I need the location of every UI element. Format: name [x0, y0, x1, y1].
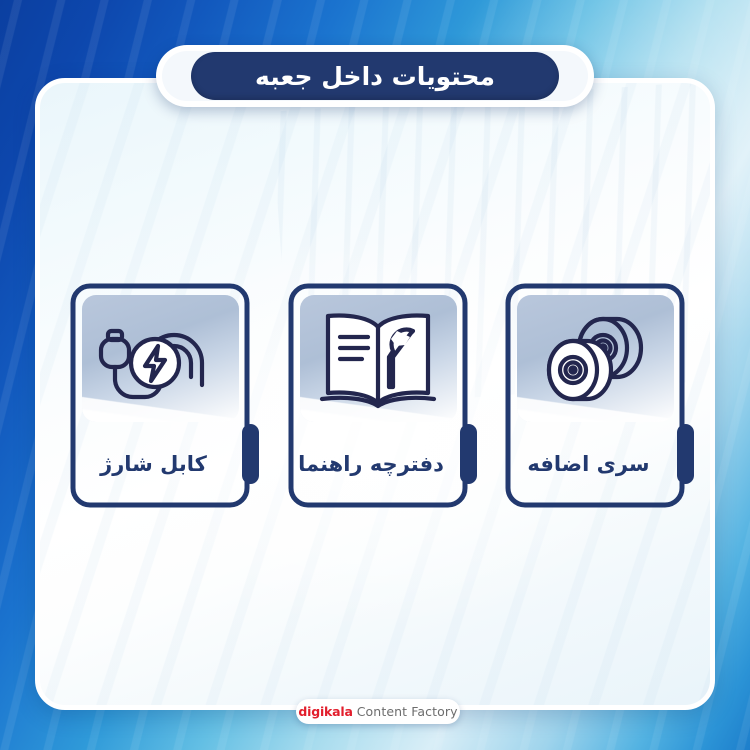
card-user-manual[interactable]: دفترچه راهنما [286, 281, 471, 510]
feature-card-row: سری اضافه [68, 281, 688, 515]
card-extra-eartips[interactable]: سری اضافه [503, 281, 688, 510]
infographic-canvas: محتویات داخل جعبه [0, 0, 750, 750]
page-title: محتویات داخل جعبه [255, 62, 495, 91]
card-charging-cable[interactable]: کابل شارژ [68, 281, 253, 510]
card-accent-pill [460, 424, 477, 484]
card-label: دفترچه راهنما [286, 452, 457, 476]
eartips-icon [517, 295, 674, 422]
card-label: کابل شارژ [68, 452, 239, 476]
digikala-wordmark: digikala [298, 704, 352, 719]
content-factory-label: Content Factory [357, 704, 458, 719]
digikala-content-factory-badge: digikala Content Factory [296, 699, 460, 724]
card-icon-plate [82, 295, 239, 422]
card-label: سری اضافه [503, 452, 674, 476]
manual-book-wrench-icon [300, 295, 457, 422]
card-accent-pill [677, 424, 694, 484]
title-banner-pill: محتویات داخل جعبه [191, 52, 559, 100]
card-icon-plate [517, 295, 674, 422]
card-icon-plate [300, 295, 457, 422]
card-accent-pill [242, 424, 259, 484]
title-banner: محتویات داخل جعبه [156, 45, 594, 107]
charging-cable-icon [82, 295, 239, 422]
